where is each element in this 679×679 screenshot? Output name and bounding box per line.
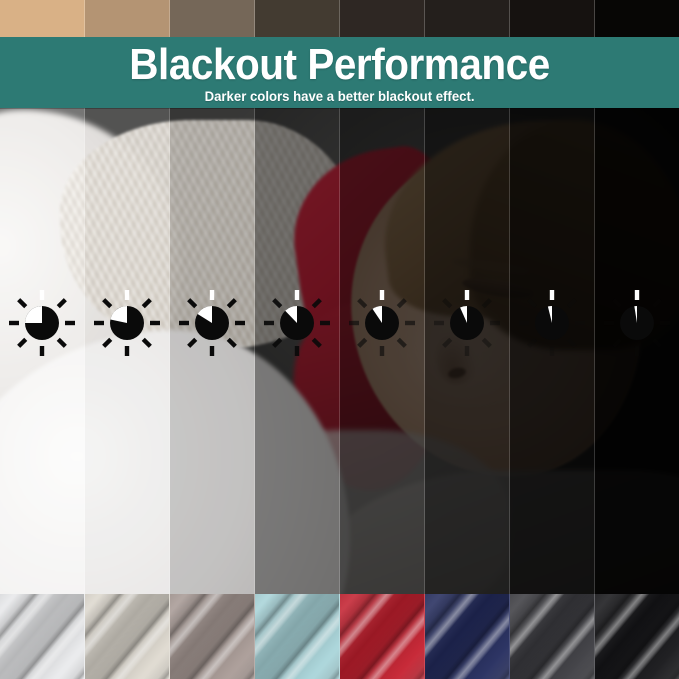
fabric-sheen [255, 594, 340, 679]
fabric-sheen [425, 594, 510, 679]
color-strip-cell-7 [510, 0, 595, 38]
page-title: Blackout Performance [129, 43, 549, 87]
header-banner: Blackout Performance Darker colors have … [0, 37, 679, 108]
swatch-dark-grey[interactable] [510, 594, 595, 679]
swatch-white[interactable] [0, 594, 85, 679]
fabric-sheen [595, 594, 679, 679]
fabric-sheen [340, 594, 425, 679]
color-strip-cell-6 [425, 0, 510, 38]
swatch-light-teal[interactable] [255, 594, 340, 679]
swatch-black[interactable] [595, 594, 679, 679]
swatch-navy[interactable] [425, 594, 510, 679]
swatch-taupe[interactable] [170, 594, 255, 679]
color-strip-cell-4 [255, 0, 340, 38]
fabric-sheen [510, 594, 595, 679]
swatch-red[interactable] [340, 594, 425, 679]
page-subtitle: Darker colors have a better blackout eff… [205, 89, 475, 103]
blackout-performance-infographic: Blackout Performance Darker colors have … [0, 0, 679, 679]
color-gradient-strip [0, 0, 679, 38]
fabric-sheen [170, 594, 255, 679]
color-strip-cell-8 [595, 0, 679, 38]
swatch-cream[interactable] [85, 594, 170, 679]
color-strip-cell-2 [85, 0, 170, 38]
fabric-sheen [0, 594, 85, 679]
color-strip-cell-1 [0, 0, 85, 38]
fabric-color-swatches [0, 594, 679, 679]
color-strip-cell-5 [340, 0, 425, 38]
fabric-sheen [85, 594, 170, 679]
color-strip-cell-3 [170, 0, 255, 38]
